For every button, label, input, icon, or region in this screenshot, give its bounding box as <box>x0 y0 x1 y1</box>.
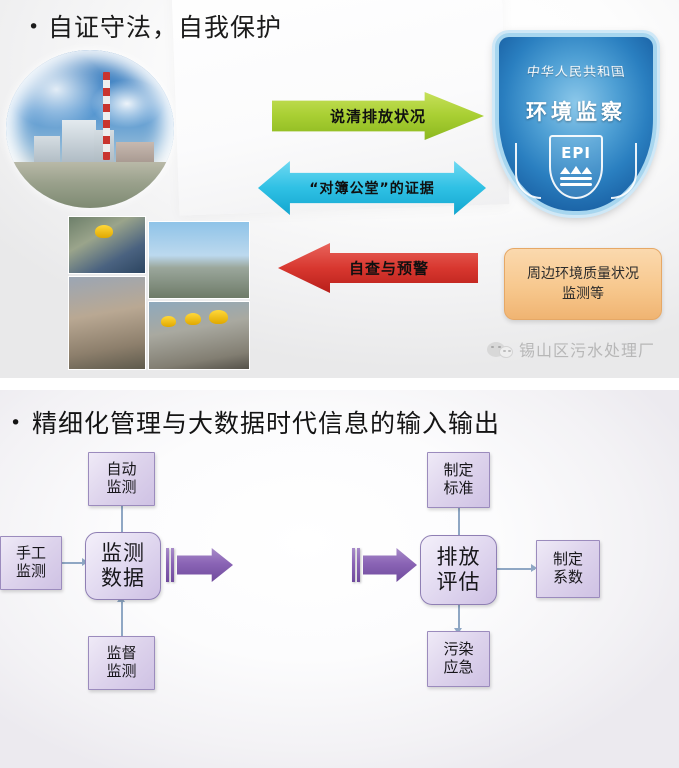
emblem-epi-text: EPI <box>551 144 601 162</box>
node-set-coefficient[interactable]: 制定 系数 <box>536 540 600 598</box>
inspection-team-photo <box>148 301 250 370</box>
node-auto-monitoring[interactable]: 自动 监测 <box>88 452 155 506</box>
chevron-tail-right-1 <box>352 548 355 582</box>
laurel-right-icon <box>611 143 637 199</box>
node-emission-evaluation[interactable]: 排放 评估 <box>420 535 497 605</box>
node-auto-monitoring-line2: 监测 <box>106 479 136 497</box>
bullet-marker: • <box>28 16 48 38</box>
slide-2-title: •精细化管理与大数据时代信息的输入输出 <box>10 404 500 440</box>
connector-eval-to-coefficient <box>497 568 535 570</box>
industrial-pipeline-photo <box>148 221 250 299</box>
arrow-report-emission: 说清排放状况 <box>272 92 484 140</box>
node-supervision-monitoring-line1: 监督 <box>106 645 136 663</box>
emblem-main-text: 环境监察 <box>499 96 653 126</box>
chevron-data-to-bigdata <box>177 548 233 582</box>
node-manual-monitoring[interactable]: 手工 监测 <box>0 536 62 590</box>
node-set-standard[interactable]: 制定 标准 <box>427 452 490 508</box>
chevron-tail-left-2 <box>171 548 174 582</box>
node-auto-monitoring-line1: 自动 <box>106 461 136 479</box>
emblem-country-text: 中华人民共和国 <box>496 62 655 80</box>
node-emission-evaluation-line1: 排放 <box>437 545 481 570</box>
node-set-standard-line2: 标准 <box>443 480 473 498</box>
connector-auto-to-data <box>121 506 123 534</box>
watermark-label: 锡山区污水处理厂 <box>519 337 655 361</box>
ambient-monitoring-box: 周边环境质量状况 监测等 <box>504 248 662 320</box>
node-emission-evaluation-line2: 评估 <box>437 570 481 595</box>
wechat-icon <box>487 340 513 359</box>
chevron-bigdata-to-eval <box>363 548 417 582</box>
slide-1-title-text: 自证守法，自我保护 <box>48 13 282 42</box>
node-supervision-monitoring-line2: 监测 <box>106 663 136 681</box>
arrow-court-evidence-label: “对簿公堂”的证据 <box>258 178 486 198</box>
connector-eval-to-standard <box>458 508 460 536</box>
chevron-tail-left-1 <box>166 548 169 582</box>
node-pollution-emergency-line2: 应急 <box>443 659 473 677</box>
laurel-left-icon <box>515 143 541 199</box>
photo-collage <box>68 216 250 370</box>
node-pollution-emergency-line1: 污染 <box>443 641 473 659</box>
ambient-monitoring-line1: 周边环境质量状况 <box>527 264 639 284</box>
slide-2-title-text: 精细化管理与大数据时代信息的输入输出 <box>32 409 500 438</box>
mountain-water-icon <box>560 165 592 187</box>
bullet-marker-2: • <box>10 412 32 434</box>
smokestack-photo <box>68 276 146 370</box>
node-monitoring-data-line2: 数据 <box>101 566 145 591</box>
arrow-court-evidence: “对簿公堂”的证据 <box>258 161 486 215</box>
arrow-selfcheck-warning: 自查与预警 <box>278 243 478 293</box>
node-manual-monitoring-line1: 手工 <box>16 545 46 563</box>
node-manual-monitoring-line2: 监测 <box>16 563 46 581</box>
arrow-selfcheck-warning-label: 自查与预警 <box>278 258 478 279</box>
worker-sampling-photo <box>68 216 146 274</box>
connector-supervise-to-data <box>121 602 123 636</box>
slide-1: •自证守法，自我保护 说清排放状况 <box>0 0 679 378</box>
watermark-slide-1: 锡山区污水处理厂 <box>487 337 655 361</box>
arrow-report-emission-label: 说清排放状况 <box>272 106 484 127</box>
node-set-coefficient-line2: 系数 <box>553 569 583 587</box>
power-plant-photo <box>6 50 174 208</box>
node-set-standard-line1: 制定 <box>443 462 473 480</box>
node-monitoring-data[interactable]: 监测 数据 <box>85 532 161 600</box>
node-set-coefficient-line1: 制定 <box>553 551 583 569</box>
slide-1-title: •自证守法，自我保护 <box>28 8 282 44</box>
epi-shield-icon: EPI <box>549 135 603 199</box>
node-supervision-monitoring[interactable]: 监督 监测 <box>88 636 155 690</box>
environmental-inspection-emblem: 中华人民共和国 环境监察 EPI <box>495 33 657 215</box>
slide-divider <box>0 378 679 390</box>
node-pollution-emergency[interactable]: 污染 应急 <box>427 631 490 687</box>
node-monitoring-data-line1: 监测 <box>101 541 145 566</box>
ambient-monitoring-line2: 监测等 <box>527 284 639 304</box>
slide-deck-page: •自证守法，自我保护 说清排放状况 <box>0 0 679 768</box>
slide-2: •精细化管理与大数据时代信息的输入输出 自动 监测 手工 监测 <box>0 390 679 768</box>
chevron-tail-right-2 <box>357 548 360 582</box>
